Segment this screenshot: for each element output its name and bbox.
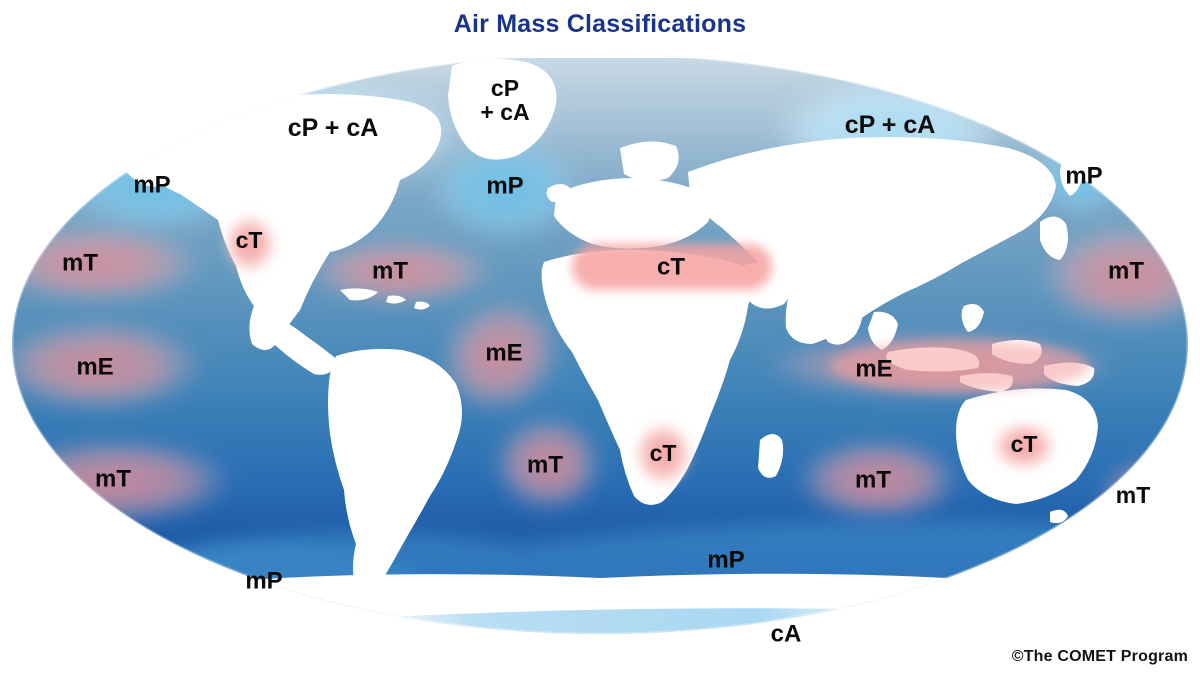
air-mass-label-ca-antarctica[interactable]: cA [771,621,802,646]
copyright-notice: ©The COMET Program [1012,648,1188,666]
air-mass-label-mt-south-pacific[interactable]: mT [95,466,131,491]
air-mass-label-me-east-pacific[interactable]: mE [76,354,113,379]
air-mass-label-cp-ca-north-america[interactable]: cP + cA [288,115,379,141]
air-mass-label-cp-ca-siberia[interactable]: cP + cA [845,112,936,138]
air-mass-label-mp-southern-ocean-west[interactable]: mP [245,568,282,593]
air-mass-map-figure: Air Mass Classifications [0,0,1200,678]
air-mass-label-ct-sahara[interactable]: cT [657,254,685,279]
air-mass-label-mp-north-pacific[interactable]: mP [133,172,170,197]
air-mass-label-ct-south-africa[interactable]: cT [650,441,677,465]
page-title: Air Mass Classifications [0,10,1200,39]
air-mass-label-ct-mexico[interactable]: cT [236,228,263,252]
air-mass-label-mp-southern-ocean-east[interactable]: mP [707,547,744,572]
air-mass-label-mp-okhotsk[interactable]: mP [1065,163,1102,188]
air-mass-label-mt-new-zealand[interactable]: mT [1116,483,1151,507]
air-mass-label-mt-south-atlantic[interactable]: mT [527,452,563,477]
air-mass-label-me-south-atlantic[interactable]: mE [485,340,522,365]
world-map: cP + cA cP + cA cP + cA mP mP mP mT cT m… [0,44,1200,644]
air-mass-label-mt-nw-pacific[interactable]: mT [1108,258,1144,283]
world-map-graphic [0,44,1200,644]
air-mass-label-me-indonesia[interactable]: mE [855,356,892,381]
air-mass-label-mp-north-atlantic[interactable]: mP [486,173,523,198]
air-mass-label-ct-australia[interactable]: cT [1011,432,1038,456]
air-mass-label-cp-ca-greenland[interactable]: cP + cA [480,76,529,124]
air-mass-label-mt-caribbean[interactable]: mT [372,258,408,283]
air-mass-label-mt-indian-ocean[interactable]: mT [855,467,891,492]
air-mass-label-mt-ne-pacific[interactable]: mT [62,250,98,275]
